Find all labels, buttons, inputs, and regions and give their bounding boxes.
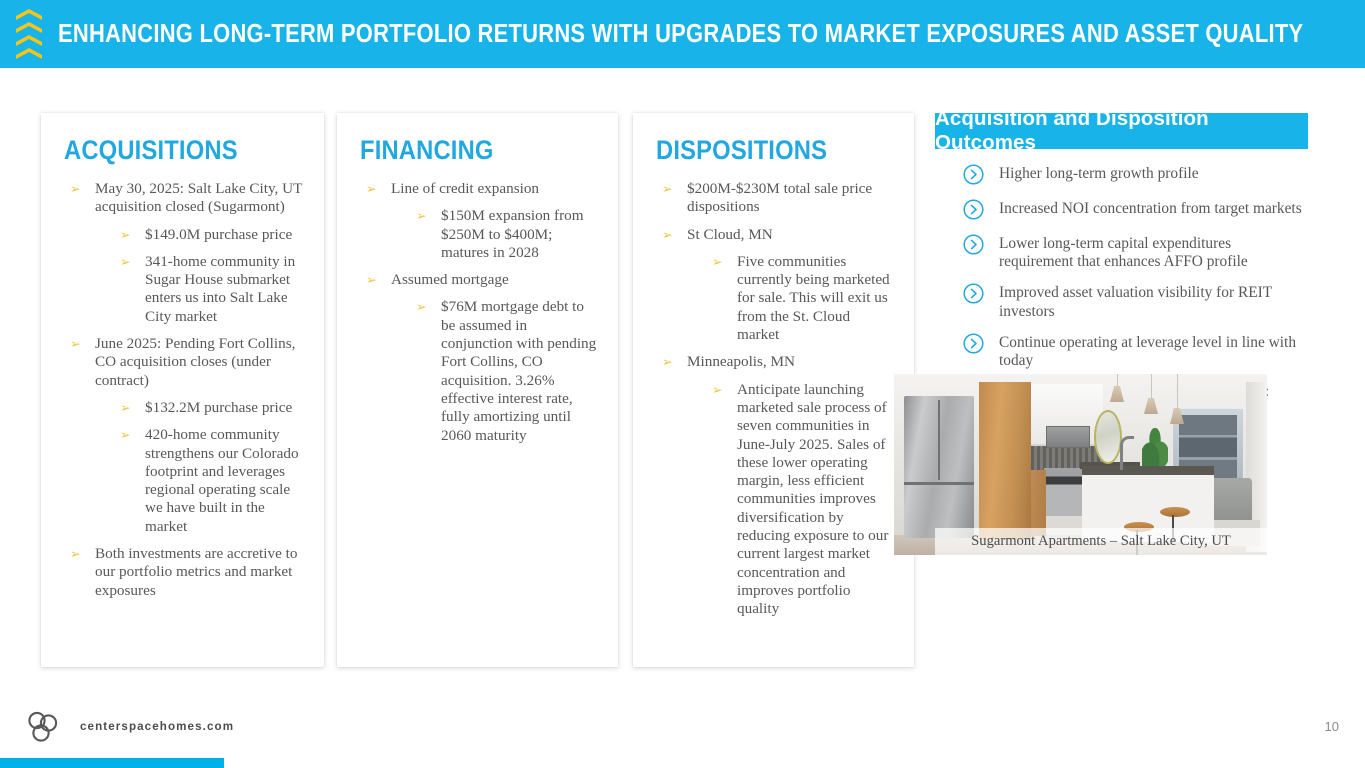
arrow-bullet-icon: ➢ bbox=[70, 335, 80, 353]
arrow-bullet-icon: ➢ bbox=[70, 545, 80, 563]
bullet-item: ➢$200M-$230M total sale price dispositio… bbox=[656, 180, 894, 217]
chevron-up-icon bbox=[16, 35, 42, 46]
arrow-bullet-icon: ➢ bbox=[662, 353, 672, 371]
photo-pendant-cord bbox=[1117, 374, 1118, 388]
bullet-text: Line of credit expansion bbox=[391, 180, 598, 198]
photo-stool bbox=[1160, 507, 1190, 517]
section-title-dispositions: DISPOSITIONS bbox=[656, 135, 865, 166]
photo-caption: Sugarmont Apartments – Salt Lake City, U… bbox=[935, 528, 1267, 555]
card-financing: FINANCING ➢Line of credit expansion ➢$15… bbox=[337, 113, 618, 667]
outcome-text: Increased NOI concentration from target … bbox=[999, 200, 1302, 217]
outcome-text: Lower long-term capital expenditures req… bbox=[999, 235, 1248, 270]
bullet-item: ➢Five communities currently being market… bbox=[706, 253, 894, 344]
arrow-bullet-icon: ➢ bbox=[712, 381, 722, 399]
chevron-right-circle-icon bbox=[963, 333, 984, 354]
chevron-up-icon bbox=[16, 48, 42, 59]
chevron-right-circle-icon bbox=[963, 164, 984, 185]
bullet-text: June 2025: Pending Fort Collins, CO acqu… bbox=[95, 335, 304, 390]
photo-mirror bbox=[1094, 410, 1122, 464]
bullet-item: ➢St Cloud, MN bbox=[656, 226, 894, 244]
bullet-list-dispositions: ➢$200M-$230M total sale price dispositio… bbox=[647, 180, 894, 619]
arrow-bullet-icon: ➢ bbox=[662, 180, 672, 198]
bullet-text: Anticipate launching marketed sale proce… bbox=[737, 381, 894, 619]
outcome-text: Higher long-term growth profile bbox=[999, 165, 1199, 182]
bullet-text: 341-home community in Sugar House submar… bbox=[145, 253, 304, 326]
arrow-bullet-icon: ➢ bbox=[120, 253, 130, 271]
bullet-item: ➢Minneapolis, MN bbox=[656, 353, 894, 371]
photo-wood-cabinet bbox=[979, 382, 1031, 540]
card-acquisitions: ACQUISITIONS ➢May 30, 2025: Salt Lake Ci… bbox=[41, 113, 324, 667]
chevron-right-circle-icon bbox=[963, 283, 984, 304]
chevron-up-icon bbox=[16, 9, 42, 20]
bullet-item: ➢June 2025: Pending Fort Collins, CO acq… bbox=[64, 335, 304, 390]
arrow-bullet-icon: ➢ bbox=[70, 180, 80, 198]
bullet-item: ➢Anticipate launching marketed sale proc… bbox=[706, 381, 894, 619]
arrow-bullet-icon: ➢ bbox=[120, 426, 130, 444]
slide-header: ENHANCING LONG-TERM PORTFOLIO RETURNS WI… bbox=[0, 0, 1365, 68]
chevron-up-icon bbox=[16, 22, 42, 33]
bullet-text: St Cloud, MN bbox=[687, 226, 894, 244]
bullet-item: ➢May 30, 2025: Salt Lake City, UT acquis… bbox=[64, 180, 304, 217]
bullet-text: $132.2M purchase price bbox=[145, 399, 304, 417]
page-number: 10 bbox=[1325, 719, 1339, 734]
photo-pendant-cord bbox=[1151, 374, 1152, 400]
bullet-text: Assumed mortgage bbox=[391, 271, 598, 289]
outcome-item: Higher long-term growth profile bbox=[950, 165, 1308, 187]
arrow-bullet-icon: ➢ bbox=[416, 207, 426, 225]
trefoil-circles-logo bbox=[25, 709, 61, 745]
arrow-bullet-icon: ➢ bbox=[366, 180, 376, 198]
bullet-list-financing: ➢Line of credit expansion ➢$150M expansi… bbox=[351, 180, 598, 445]
bullet-text: May 30, 2025: Salt Lake City, UT acquisi… bbox=[95, 180, 304, 217]
bullet-item: ➢341-home community in Sugar House subma… bbox=[114, 253, 304, 326]
bullet-item: ➢$149.0M purchase price bbox=[114, 226, 304, 244]
bullet-item: ➢Both investments are accretive to our p… bbox=[64, 545, 304, 600]
card-dispositions: DISPOSITIONS ➢$200M-$230M total sale pri… bbox=[633, 113, 914, 667]
page-title: ENHANCING LONG-TERM PORTFOLIO RETURNS WI… bbox=[58, 20, 1303, 49]
arrow-bullet-icon: ➢ bbox=[120, 226, 130, 244]
photo-pendant-light bbox=[1110, 386, 1124, 402]
bottom-accent-bar bbox=[0, 758, 224, 768]
chevron-right-circle-icon bbox=[963, 234, 984, 255]
bullet-item: ➢$76M mortgage debt to be assumed in con… bbox=[410, 298, 598, 444]
outcome-text: Continue operating at leverage level in … bbox=[999, 334, 1296, 369]
section-title-acquisitions: ACQUISITIONS bbox=[64, 135, 275, 166]
bullet-item: ➢$132.2M purchase price bbox=[114, 399, 304, 417]
photo-microwave bbox=[1046, 426, 1090, 448]
footer-website-url: centerspacehomes.com bbox=[80, 720, 234, 733]
bullet-item: ➢Assumed mortgage bbox=[360, 271, 598, 289]
slide: ENHANCING LONG-TERM PORTFOLIO RETURNS WI… bbox=[0, 0, 1365, 768]
arrow-bullet-icon: ➢ bbox=[366, 271, 376, 289]
bullet-item: ➢$150M expansion from $250M to $400M; ma… bbox=[410, 207, 598, 262]
bullet-text: $150M expansion from $250M to $400M; mat… bbox=[441, 207, 598, 262]
bullet-text: $200M-$230M total sale price disposition… bbox=[687, 180, 894, 217]
arrow-bullet-icon: ➢ bbox=[712, 253, 722, 271]
arrow-bullet-icon: ➢ bbox=[416, 298, 426, 316]
photo-fridge-seam bbox=[938, 400, 940, 480]
outcomes-panel-header: Acquisition and Disposition Outcomes bbox=[935, 113, 1308, 149]
photo-pendant-light bbox=[1144, 398, 1158, 414]
bullet-list-acquisitions: ➢May 30, 2025: Salt Lake City, UT acquis… bbox=[55, 180, 304, 600]
chevron-right-circle-icon bbox=[963, 199, 984, 220]
arrow-bullet-icon: ➢ bbox=[662, 226, 672, 244]
chevron-stack-icon bbox=[16, 0, 42, 68]
bullet-text: $76M mortgage debt to be assumed in conj… bbox=[441, 298, 598, 444]
photo-faucet bbox=[1120, 436, 1134, 470]
bullet-text: $149.0M purchase price bbox=[145, 226, 304, 244]
bullet-text: Five communities currently being markete… bbox=[737, 253, 894, 344]
photo-plant bbox=[1142, 428, 1168, 466]
bullet-item: ➢420-home community strengthens our Colo… bbox=[114, 426, 304, 536]
section-title-financing: FINANCING bbox=[360, 135, 569, 166]
bullet-text: Both investments are accretive to our po… bbox=[95, 545, 304, 600]
photo-refrigerator bbox=[904, 396, 974, 538]
arrow-bullet-icon: ➢ bbox=[120, 399, 130, 417]
bullet-text: 420-home community strengthens our Color… bbox=[145, 426, 304, 536]
apartment-kitchen-photo: Sugarmont Apartments – Salt Lake City, U… bbox=[894, 374, 1267, 555]
bullet-text: Minneapolis, MN bbox=[687, 353, 894, 371]
bullet-item: ➢Line of credit expansion bbox=[360, 180, 598, 198]
outcome-item: Improved asset valuation visibility for … bbox=[950, 284, 1308, 320]
outcome-item: Increased NOI concentration from target … bbox=[950, 200, 1308, 222]
outcome-item: Continue operating at leverage level in … bbox=[950, 334, 1308, 370]
photo-pendant-cord bbox=[1177, 374, 1178, 410]
outcome-text: Improved asset valuation visibility for … bbox=[999, 284, 1272, 319]
outcome-item: Lower long-term capital expenditures req… bbox=[950, 235, 1308, 271]
